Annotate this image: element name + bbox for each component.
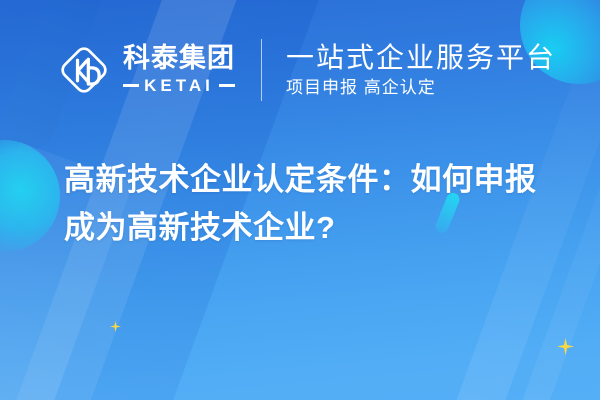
wordmark-rule-right bbox=[219, 84, 235, 87]
ketai-diamond-monogram-icon bbox=[57, 43, 111, 97]
brand-name-cn: 科泰集团 bbox=[123, 44, 235, 72]
headline-line-1: 高新技术企业认定条件：如何申报 bbox=[64, 156, 564, 204]
brand-name-en-row: KETAI bbox=[123, 76, 235, 96]
tagline-sub: 项目申报 高企认定 bbox=[286, 78, 556, 98]
circle-glow-shape bbox=[0, 140, 60, 252]
tagline-main: 一站式企业服务平台 bbox=[286, 42, 556, 73]
wordmark-rule-left bbox=[123, 84, 139, 87]
promo-banner: 科泰集团 KETAI 一站式企业服务平台 项目申报 高企认定 高新技术企业认定条… bbox=[0, 0, 600, 400]
sparkle-icon bbox=[557, 338, 574, 355]
page-title: 高新技术企业认定条件：如何申报 成为高新技术企业? bbox=[64, 156, 564, 252]
banner-header: 科泰集团 KETAI 一站式企业服务平台 项目申报 高企认定 bbox=[0, 0, 600, 140]
brand-name-en: KETAI bbox=[139, 76, 219, 96]
tagline-block: 一站式企业服务平台 项目申报 高企认定 bbox=[286, 42, 556, 98]
headline-line-2: 成为高新技术企业? bbox=[64, 204, 564, 252]
brand-wordmark: 科泰集团 KETAI bbox=[123, 44, 235, 95]
vertical-divider bbox=[261, 39, 262, 101]
sparkle-icon bbox=[110, 321, 121, 332]
brand-logo[interactable]: 科泰集团 KETAI bbox=[57, 43, 235, 97]
